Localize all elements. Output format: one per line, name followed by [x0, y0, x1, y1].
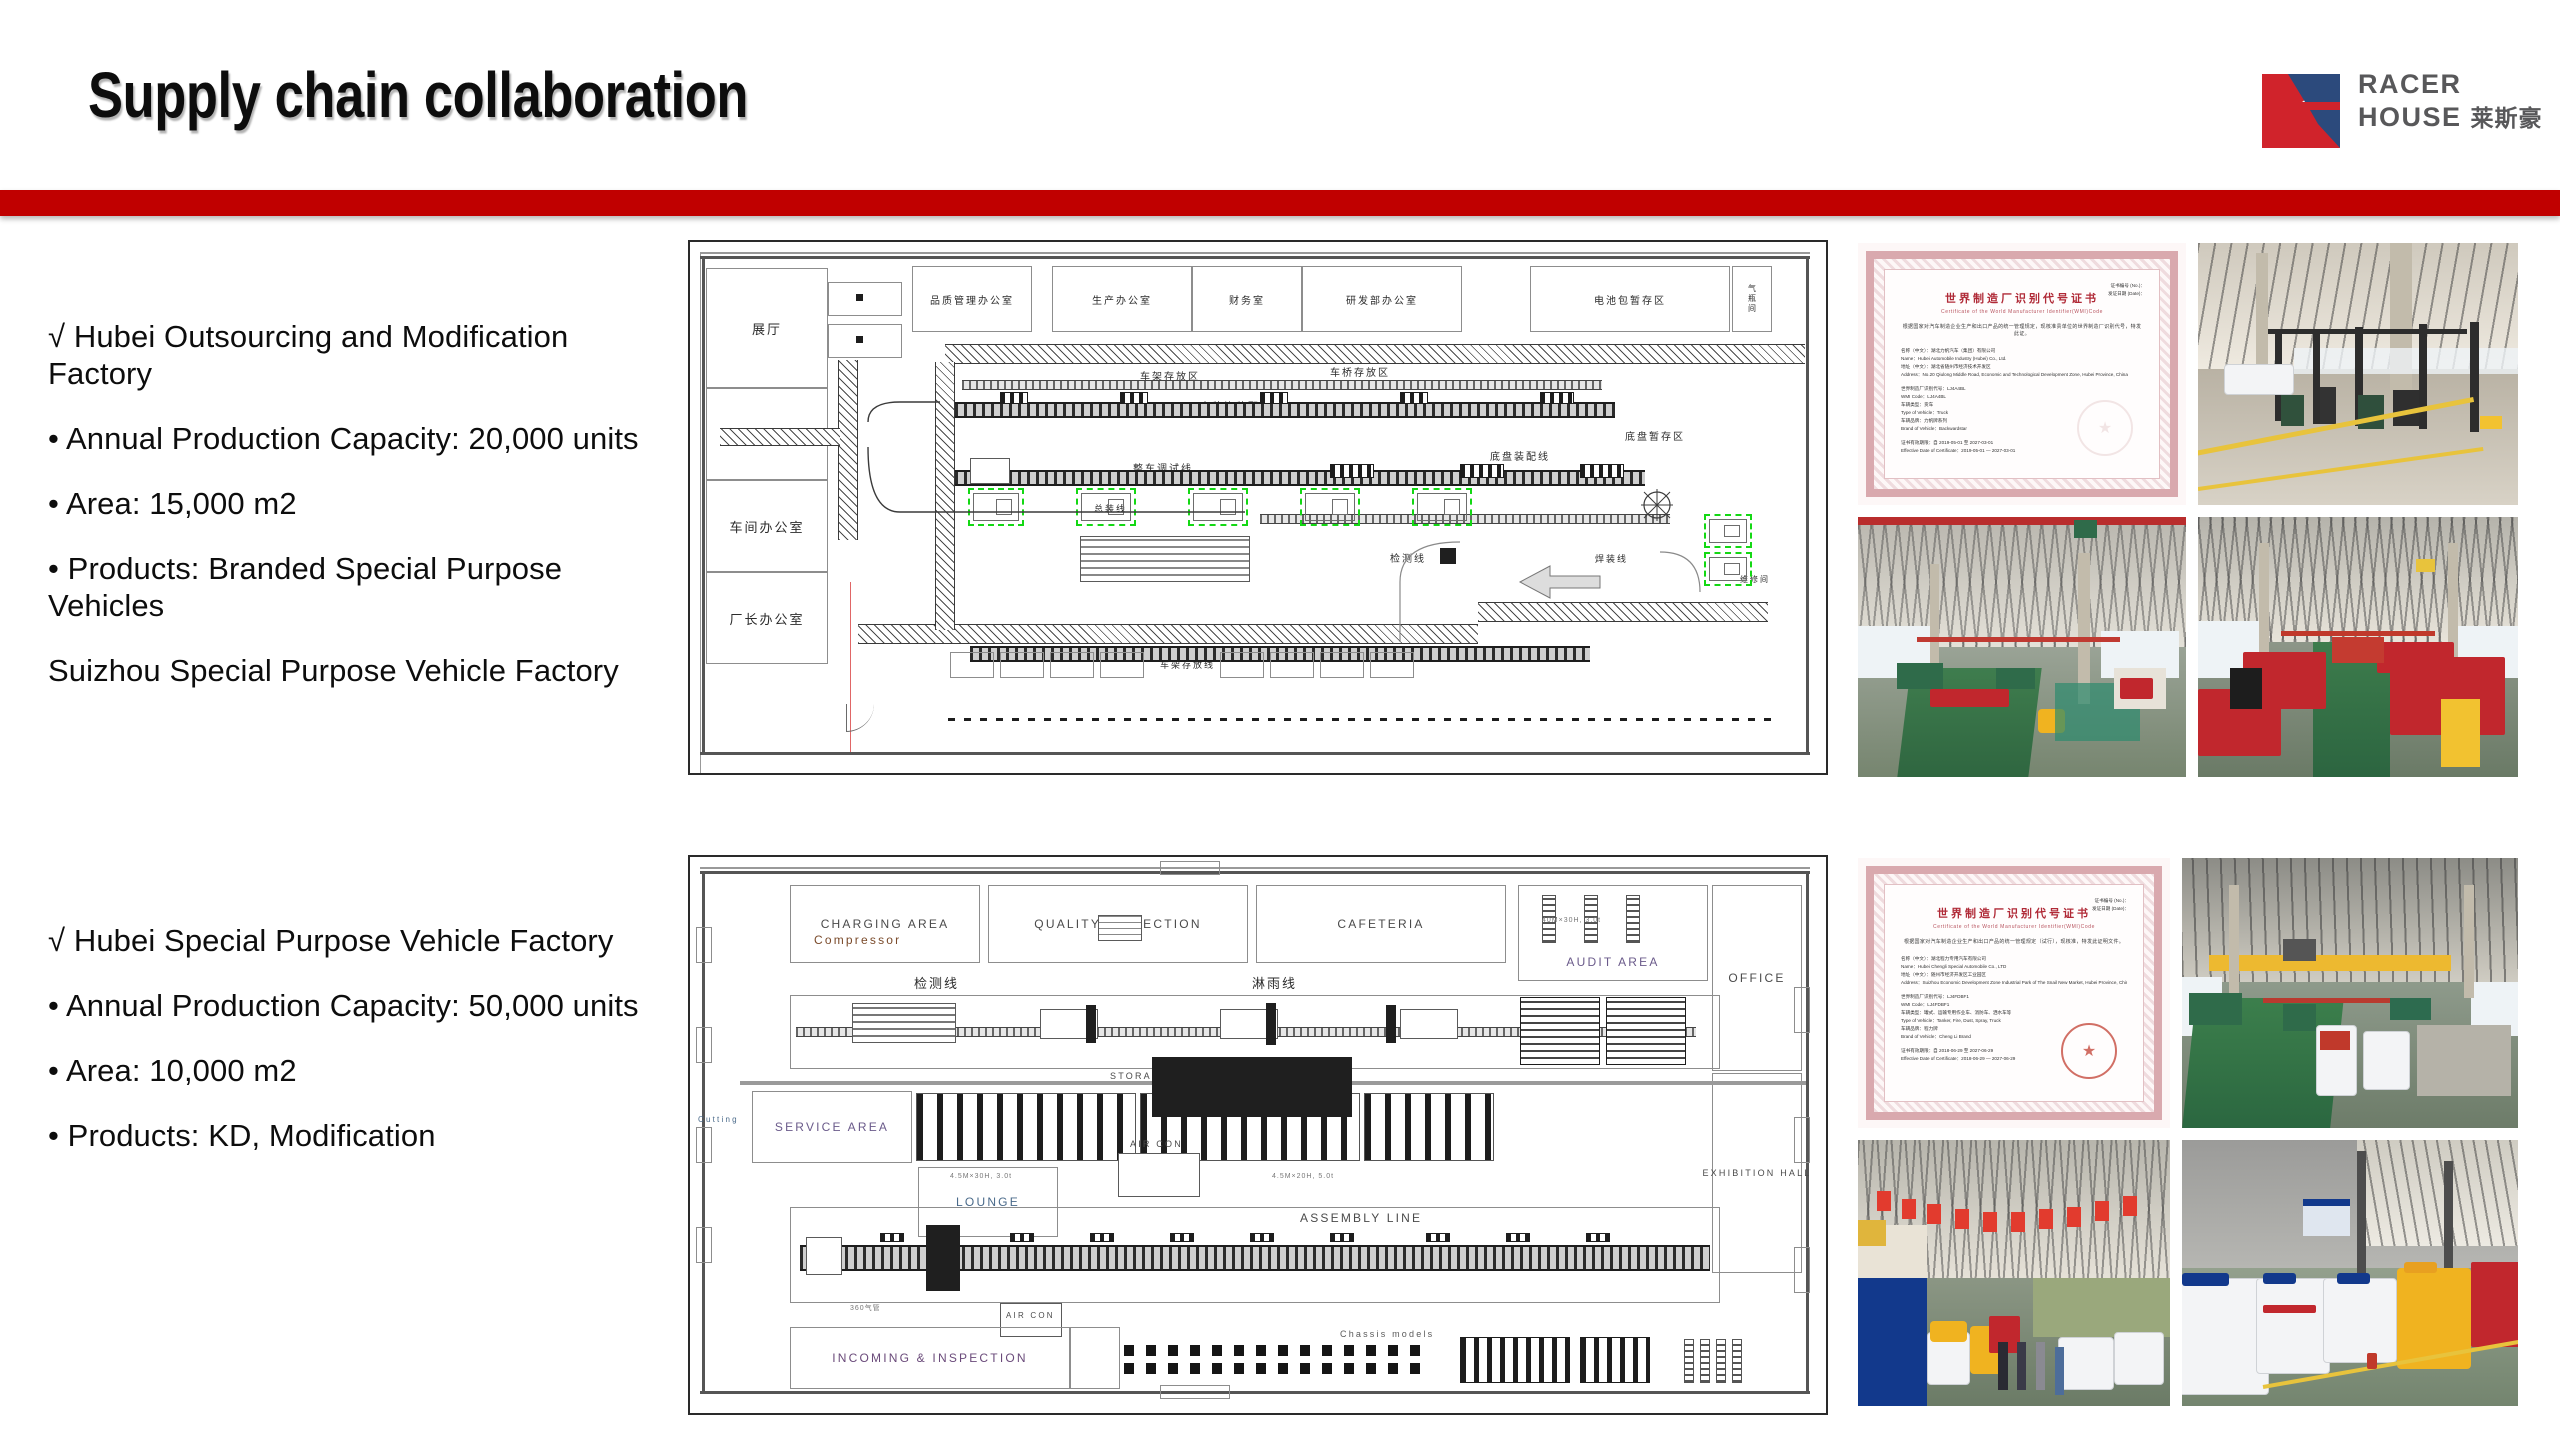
plan2-room-label-11: INCOMING & INSPECTION [832, 1351, 1028, 1365]
logo-chinese: 莱斯豪 [2471, 105, 2543, 131]
cert2-body: 根据国家对汽车制造企业生产和出口产品的统一管理规定（试行），现核准，特发此证明文… [1901, 938, 2127, 945]
section-1-text: √ Hubei Outsourcing and Modification Fac… [48, 318, 668, 689]
cert2-row-1: Name：Hubei Chengli Special Automobile Co… [1901, 963, 2127, 971]
cert2-seal-stamp [2061, 1023, 2117, 1079]
section-1-heading: √ Hubei Outsourcing and Modification Fac… [48, 318, 668, 392]
section-1-footer: Suizhou Special Purpose Vehicle Factory [48, 652, 668, 689]
plan2-room-service-area: SERVICE AREA [752, 1091, 912, 1163]
plan2-cn-label-1: 淋雨线 [1252, 973, 1297, 992]
logo-line-2-wrap: HOUSE 莱斯豪 [2358, 101, 2543, 135]
cert2-row-5: WMI Code：LJ4FDBF1 [1901, 1001, 2127, 1009]
factory-photo-ambulance-hall-flags [1858, 1140, 2170, 1406]
factory-photo-fabrication-hall-crane [2182, 858, 2518, 1128]
factory-photo-production-hall-green-floor [1858, 517, 2186, 777]
cert2-row-2: 地址（中文）：随州市经济开发区工业园区 [1901, 971, 2127, 979]
plan2-room-label-13: Chassis models [1340, 1329, 1434, 1339]
cert2-title-en: Certificate of the World Manufacturer Id… [1901, 924, 2127, 930]
factory-photo-ambulance-lineup [2182, 1140, 2518, 1406]
plan2-room-label-4: AUDIT AREA [1566, 955, 1659, 969]
plan2-room-incoming-inspection: INCOMING & INSPECTION [790, 1327, 1070, 1389]
plan2-room-label-2: CHARGING AREA [821, 917, 950, 931]
cert1-row-3: Address：No.20 Qiulong Middle Road, Econo… [1901, 371, 2143, 379]
cert1-no-label: 证书编号 (No.)： [2111, 283, 2145, 288]
accent-divider-bar [0, 190, 2560, 216]
cert2-row-4: 世界制造厂识别代号：LJ4FDBF1 [1901, 993, 2127, 1001]
logo-line-2: HOUSE [2358, 102, 2462, 132]
section-2-bullet-2: • Area: 10,000 m2 [48, 1052, 668, 1089]
plan2-room-label-1: CAFETERIA [1337, 917, 1424, 931]
plan2-dim-0: 4.5M×30H, 3.0t [950, 1173, 1012, 1180]
section-2-bullet-1: • Annual Production Capacity: 50,000 uni… [48, 987, 668, 1024]
plan2-dim-3: 360气管 [850, 1303, 881, 1313]
section-2-text: √ Hubei Special Purpose Vehicle Factory … [48, 922, 668, 1182]
cert1-row-4: 世界制造厂识别代号：LJ4A4BL [1901, 385, 2143, 393]
cert1-title-cn: 世界制造厂识别代号证书 [1901, 290, 2143, 306]
factory-photo-vehicle-lift-bay [2198, 243, 2518, 505]
plan2-room-label-3: Compressor [814, 933, 901, 947]
cert2-date-label: 发证日期 (Date)： [2092, 906, 2129, 911]
cert1-row-2: 地址（中文）：湖北省随州市经济技术开发区 [1901, 363, 2143, 371]
wmi-certificate-1: 证书编号 (No.)： 发证日期 (Date)： 世界制造厂识别代号证书 Cer… [1858, 243, 2186, 505]
cert1-seal-stamp [2077, 400, 2133, 456]
brand-logo: RACER HOUSE 莱斯豪 [2258, 62, 2548, 148]
section-2-bullet-3: • Products: KD, Modification [48, 1117, 668, 1154]
plan2-room-label-14: Cutting [698, 1115, 739, 1124]
logo-line-1: RACER [2358, 68, 2543, 101]
plan2-room-label-7: AIR CON [1130, 1139, 1183, 1149]
wmi-certificate-2: 证书编号 (No.)： 发证日期 (Date)： 世界制造厂识别代号证书 Cer… [1858, 858, 2170, 1128]
racer-house-logo-icon [2258, 62, 2344, 148]
section-1-bullet-1: • Annual Production Capacity: 20,000 uni… [48, 420, 668, 457]
slide-root: Supply chain collaboration RACER HOUSE 莱… [0, 0, 2560, 1440]
page-title: Supply chain collaboration [88, 58, 748, 132]
plan2-room-label-10: ASSEMBLY LINE [1300, 1211, 1422, 1225]
cert1-row-1: Name：Hubei Automobile Industry (Hubei) C… [1901, 355, 2143, 363]
section-2-heading: √ Hubei Special Purpose Vehicle Factory [48, 922, 668, 959]
plan1-equipment-symbol-icon [1640, 488, 1674, 522]
cert1-date-label: 发证日期 (Date)： [2108, 291, 2145, 296]
floorplan-drawing-1: 展厅 会议室 车间办公室 厂长办公室 品质管理办公室 生产办公室 [688, 240, 1828, 775]
plan2-dim-2: 40M×30H, 3.0t [1542, 917, 1601, 924]
plan2-cn-label-0: 检测线 [914, 973, 959, 992]
photo-grid-bottom: 证书编号 (No.)： 发证日期 (Date)： 世界制造厂识别代号证书 Cer… [1858, 858, 2518, 1406]
plan2-dim-1: 4.5M×20H, 5.0t [1272, 1173, 1334, 1180]
section-1-bullet-2: • Area: 15,000 m2 [48, 485, 668, 522]
plan2-room-charging-area: CHARGING AREA [790, 885, 980, 963]
cert2-no-label: 证书编号 (No.)： [2095, 898, 2129, 903]
plan2-room-label-5: OFFICE [1728, 971, 1785, 985]
plan2-room-cafeteria: CAFETERIA [1256, 885, 1506, 963]
plan2-room-label-12: SERVICE AREA [775, 1120, 889, 1134]
floorplan-drawing-2: CHARGING AREA Compressor QUALITY INSPECT… [688, 855, 1828, 1415]
cert2-row-6: 车辆类型：罐式、运输专用作业车、消防车、洒水车等 [1901, 1009, 2127, 1017]
photo-grid-top: 证书编号 (No.)： 发证日期 (Date)： 世界制造厂识别代号证书 Cer… [1858, 243, 2518, 777]
cert1-title-en: Certificate of the World Manufacturer Id… [1901, 309, 2143, 315]
cert1-body: 根据国家对汽车制造企业生产和出口产品的统一管理规定，现核准贵单位的世界制造厂识别… [1901, 323, 2143, 337]
plan2-room-office: OFFICE [1712, 885, 1802, 1071]
plan2-room-exhibition-hall: EXHIBITION HALL [1712, 1073, 1802, 1273]
section-1-bullet-3: • Products: Branded Special Purpose Vehi… [48, 550, 668, 624]
plan2-room-label-8: EXHIBITION HALL [1702, 1168, 1811, 1178]
cert2-row-3: Address：Suizhou Economic Development Zon… [1901, 979, 2127, 987]
banner-blue [1858, 1278, 1927, 1406]
factory-photo-red-crane-trucks [2198, 517, 2518, 777]
cert1-row-0: 名称（中文）：湖北力帆汽车（集团）有限公司 [1901, 347, 2143, 355]
cert2-row-0: 名称（中文）：湖北程力专用汽车有限公司 [1901, 955, 2127, 963]
plan2-room-label-7b: AIR CON [1006, 1311, 1055, 1320]
